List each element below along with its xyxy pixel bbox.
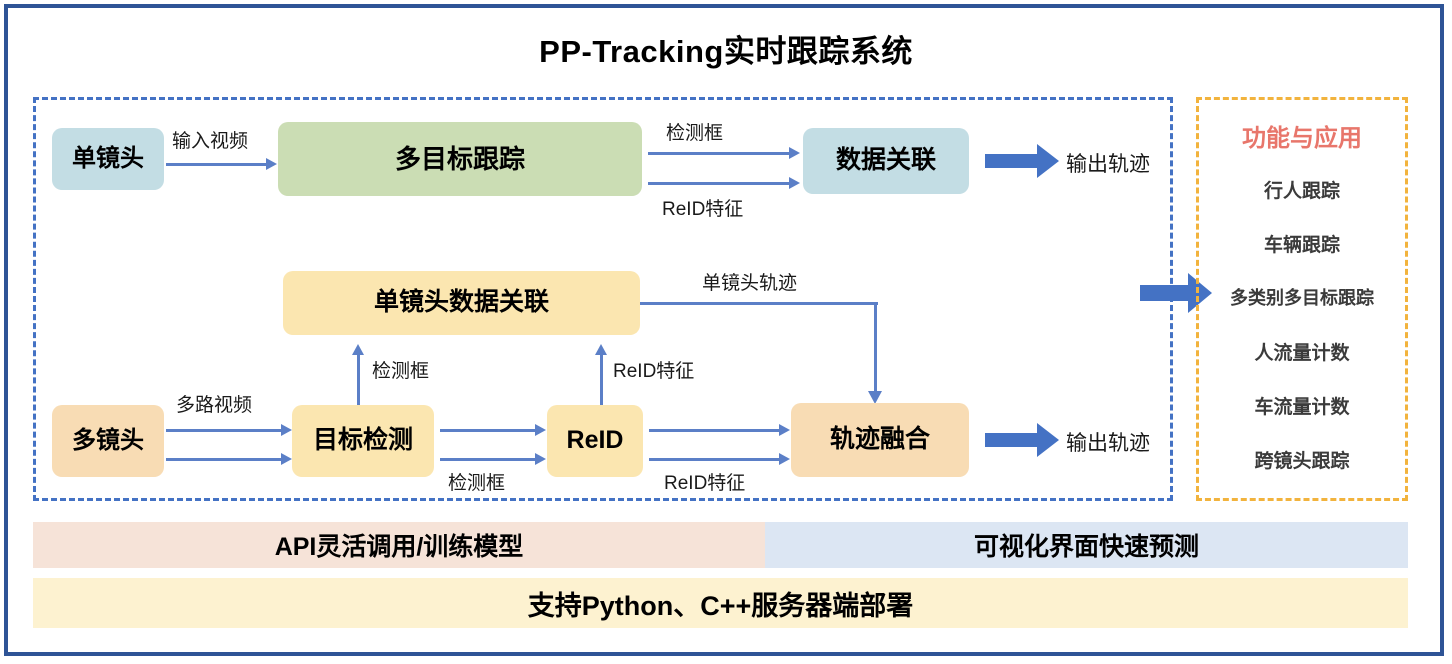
band-api: API灵活调用/训练模型 — [33, 522, 765, 568]
edge-label-reid-bottom: ReID特征 — [664, 468, 745, 495]
node-object-detection[interactable]: 目标检测 — [292, 405, 434, 477]
band-visualization: 可视化界面快速预测 — [765, 522, 1408, 568]
diagram-canvas: PP-Tracking实时跟踪系统 单镜头 输入视频 多目标跟踪 检测框 ReI… — [0, 0, 1452, 664]
arrow-head-icon — [281, 453, 292, 465]
edge-label-detbox-top: 检测框 — [666, 118, 723, 145]
node-single-camera-association[interactable]: 单镜头数据关联 — [283, 271, 640, 335]
node-mot[interactable]: 多目标跟踪 — [278, 122, 642, 196]
arrow-head-icon — [281, 424, 292, 436]
arrow-single-camera-to-tracker — [166, 163, 266, 166]
apps-container: 功能与应用 行人跟踪 车辆跟踪 多类别多目标跟踪 人流量计数 车流量计数 跨镜头… — [1196, 97, 1408, 501]
node-multi-camera[interactable]: 多镜头 — [52, 405, 164, 477]
node-single-camera[interactable]: 单镜头 — [52, 128, 164, 190]
arrow-head-icon — [535, 453, 546, 465]
arrow-single-track-elbow-v — [874, 302, 877, 393]
node-trajectory-fusion[interactable]: 轨迹融合 — [791, 403, 969, 477]
arrow-multi-camera-to-det-2 — [166, 458, 281, 461]
arrow-det-to-reid-2 — [440, 458, 535, 461]
edge-label-output-track-bottom: 输出轨迹 — [1066, 427, 1150, 457]
apps-item-people-counting[interactable]: 人流量计数 — [1199, 338, 1405, 365]
arrow-reid-to-fusion-1 — [649, 429, 779, 432]
arrow-head-icon — [789, 177, 800, 189]
arrow-output-track-bottom — [985, 423, 1059, 457]
apps-item-multiclass-mot[interactable]: 多类别多目标跟踪 — [1199, 284, 1405, 310]
arrow-mot-to-assoc-reid — [648, 182, 789, 185]
edge-label-multi-video: 多路视频 — [176, 390, 252, 417]
band-deployment: 支持Python、C++服务器端部署 — [33, 578, 1408, 628]
arrow-head-icon — [779, 424, 790, 436]
apps-title: 功能与应用 — [1199, 118, 1405, 153]
arrow-multi-camera-to-det-1 — [166, 429, 281, 432]
page-title: PP-Tracking实时跟踪系统 — [0, 26, 1452, 71]
apps-item-pedestrian-tracking[interactable]: 行人跟踪 — [1199, 176, 1405, 203]
apps-item-cross-camera-tracking[interactable]: 跨镜头跟踪 — [1199, 446, 1405, 473]
edge-label-output-track-top: 输出轨迹 — [1066, 148, 1150, 178]
arrow-reid-to-single-assoc — [600, 349, 603, 405]
arrow-head-icon — [595, 344, 607, 355]
edge-label-input-video: 输入视频 — [172, 126, 248, 153]
apps-item-vehicle-counting[interactable]: 车流量计数 — [1199, 392, 1405, 419]
edge-label-reid-top: ReID特征 — [662, 194, 743, 221]
edge-label-reid-mid: ReID特征 — [613, 356, 694, 383]
arrow-head-icon — [266, 158, 277, 170]
arrow-head-icon — [352, 344, 364, 355]
arrow-output-track-top — [985, 144, 1059, 178]
arrow-head-icon — [779, 453, 790, 465]
arrow-reid-to-fusion-2 — [649, 458, 779, 461]
arrow-det-to-single-assoc — [357, 349, 360, 405]
edge-label-single-camera-track: 单镜头轨迹 — [702, 268, 797, 295]
node-reid[interactable]: ReID — [547, 405, 643, 477]
arrow-head-icon — [789, 147, 800, 159]
edge-label-detbox-mid: 检测框 — [372, 356, 429, 383]
edge-label-detbox-bottom: 检测框 — [448, 468, 505, 495]
apps-item-vehicle-tracking[interactable]: 车辆跟踪 — [1199, 230, 1405, 257]
arrow-mot-to-assoc-det — [648, 152, 789, 155]
arrow-single-track-elbow-h — [640, 302, 878, 305]
node-data-association[interactable]: 数据关联 — [803, 128, 969, 194]
arrow-head-icon — [535, 424, 546, 436]
arrow-det-to-reid-1 — [440, 429, 535, 432]
